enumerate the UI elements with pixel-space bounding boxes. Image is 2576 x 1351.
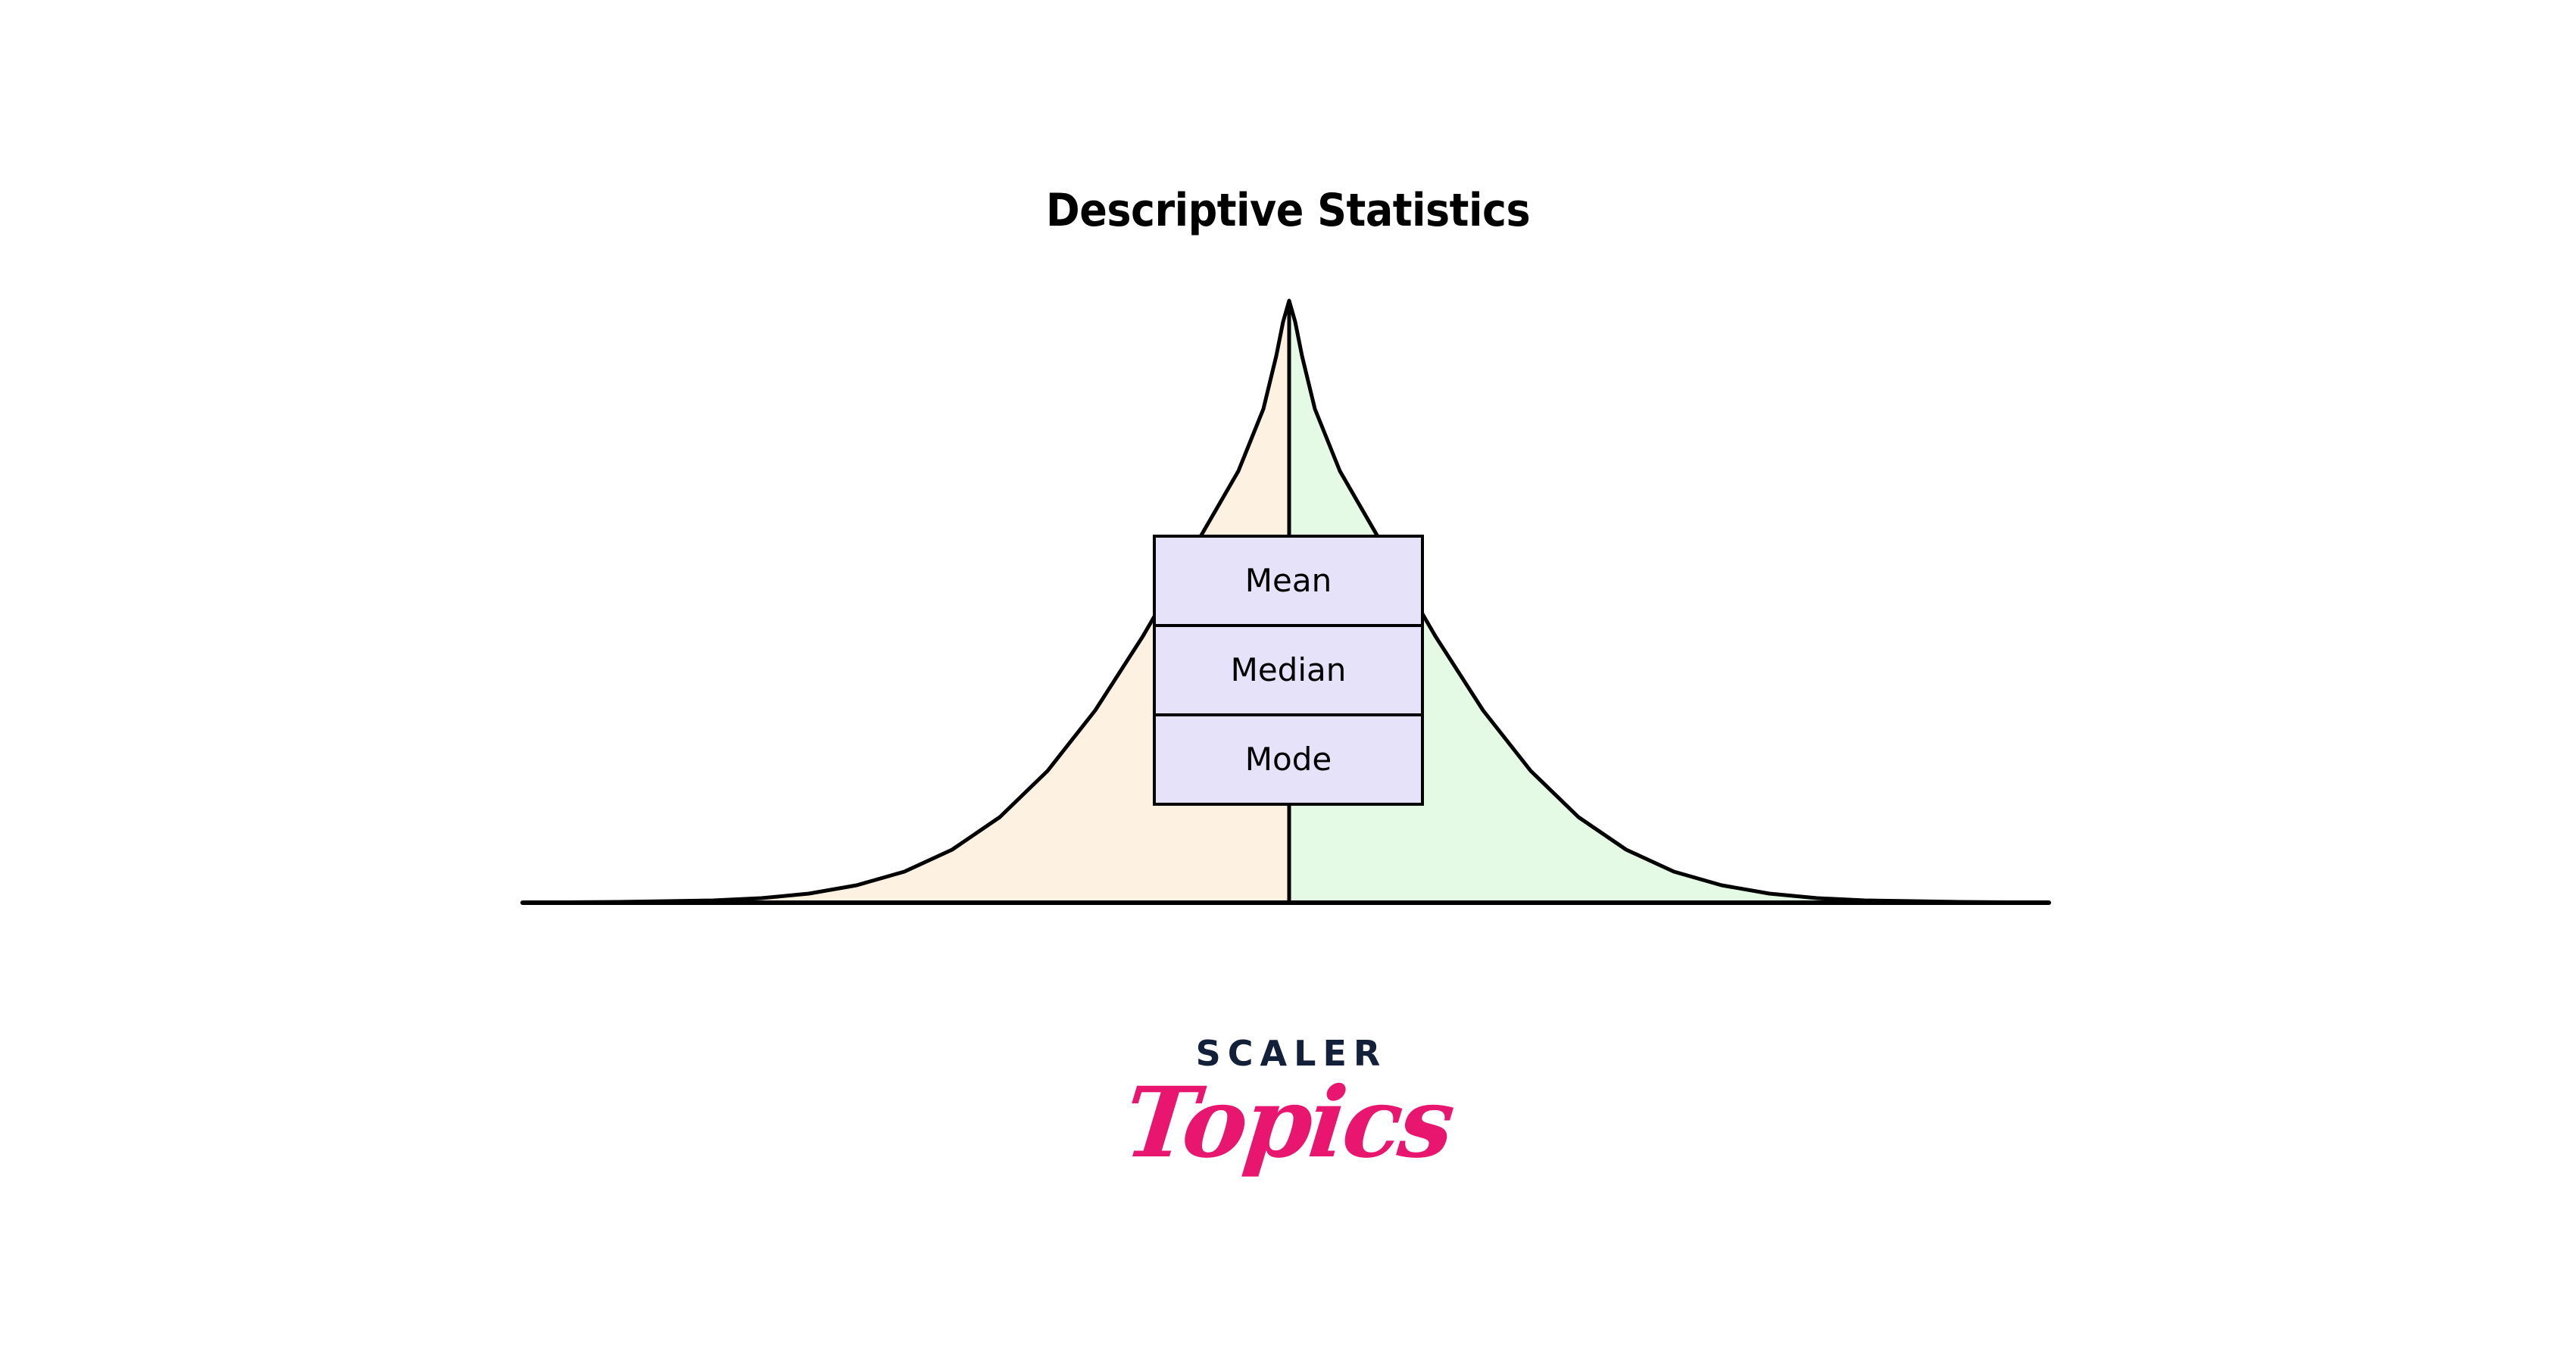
scaler-topics-logo: SCALER Topics <box>0 1036 2576 1174</box>
page-title: Descriptive Statistics <box>0 188 2576 233</box>
figure-canvas: Descriptive Statistics Mean Median Mode … <box>0 0 2576 1351</box>
logo-script: Topics <box>0 1072 2576 1174</box>
table-row: Mean <box>1156 538 1421 627</box>
table-row: Mode <box>1156 716 1421 803</box>
label-mode: Mode <box>1245 744 1332 775</box>
label-median: Median <box>1231 654 1347 686</box>
label-mean: Mean <box>1245 565 1332 597</box>
table-row: Median <box>1156 627 1421 716</box>
statistics-label-table: Mean Median Mode <box>1153 535 1424 806</box>
